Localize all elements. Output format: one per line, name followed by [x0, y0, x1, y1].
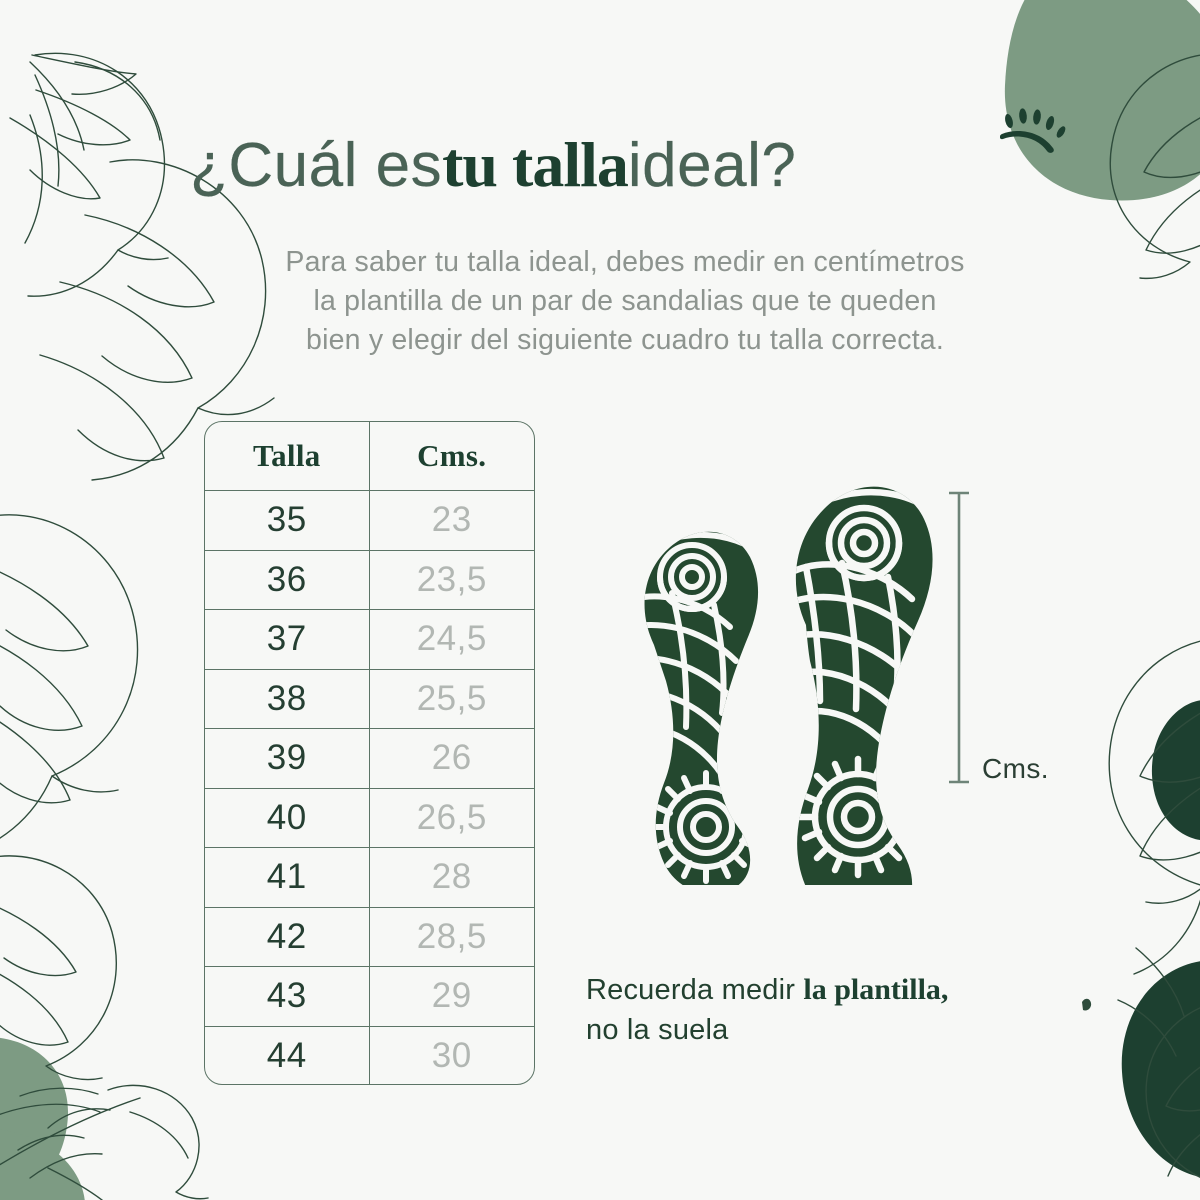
talla-value: 40: [267, 798, 307, 838]
table-row: 42 28,5: [205, 908, 534, 968]
table-cell-talla: 37: [205, 610, 370, 669]
table-header-cms: Cms.: [370, 422, 535, 490]
table-row: 36 23,5: [205, 551, 534, 611]
table-cell-cms: 23: [370, 491, 535, 550]
footprints-illustration: [610, 465, 940, 885]
talla-value: 44: [267, 1036, 307, 1076]
table-header-talla: Talla: [205, 422, 370, 490]
table-row: 37 24,5: [205, 610, 534, 670]
table-cell-talla: 36: [205, 551, 370, 610]
sage-blob-bottom-left-2: [0, 1128, 85, 1200]
footer-note-normal: Recuerda medir: [586, 974, 803, 1006]
talla-value: 41: [267, 857, 307, 897]
table-cell-talla: 43: [205, 967, 370, 1026]
footer-note: Recuerda medir la plantilla, no la suela: [586, 970, 1126, 1050]
talla-value: 35: [267, 500, 307, 540]
dark-blob-bottom-right: [1122, 960, 1200, 1178]
table-row: 40 26,5: [205, 789, 534, 849]
cms-value: 28,5: [417, 917, 487, 957]
talla-value: 37: [267, 619, 307, 659]
table-header-talla-label: Talla: [253, 438, 321, 474]
table-row: 38 25,5: [205, 670, 534, 730]
talla-value: 43: [267, 976, 307, 1016]
subtitle-line-2: la plantilla de un par de sandalias que …: [150, 282, 1100, 321]
table-cell-cms: 24,5: [370, 610, 535, 669]
table-cell-cms: 28,5: [370, 908, 535, 967]
table-row: 35 23: [205, 491, 534, 551]
table-cell-cms: 28: [370, 848, 535, 907]
table-cell-cms: 26: [370, 729, 535, 788]
cms-value: 23: [432, 500, 472, 540]
table-cell-talla: 41: [205, 848, 370, 907]
table-row: 39 26: [205, 729, 534, 789]
table-cell-cms: 23,5: [370, 551, 535, 610]
title-part-1: ¿Cuál es: [190, 129, 442, 203]
footprint-icon: [1000, 108, 1072, 154]
table-cell-talla: 42: [205, 908, 370, 967]
cms-value: 26: [432, 738, 472, 778]
talla-value: 42: [267, 917, 307, 957]
table-cell-cms: 29: [370, 967, 535, 1026]
table-cell-talla: 39: [205, 729, 370, 788]
page-subtitle: Para saber tu talla ideal, debes medir e…: [150, 243, 1100, 360]
table-header-row: Talla Cms.: [205, 422, 534, 491]
measurement-label: Cms.: [982, 753, 1049, 785]
subtitle-line-3: bien y elegir del siguiente cuadro tu ta…: [150, 321, 1100, 360]
dark-blob-right: [1152, 700, 1200, 841]
table-cell-talla: 40: [205, 789, 370, 848]
cms-value: 24,5: [417, 619, 487, 659]
table-cell-talla: 35: [205, 491, 370, 550]
subtitle-line-1: Para saber tu talla ideal, debes medir e…: [150, 243, 1100, 282]
cms-value: 30: [432, 1036, 472, 1076]
talla-value: 39: [267, 738, 307, 778]
table-cell-talla: 44: [205, 1027, 370, 1086]
cms-value: 23,5: [417, 560, 487, 600]
table-cell-cms: 30: [370, 1027, 535, 1086]
table-header-cms-label: Cms.: [417, 438, 486, 474]
size-guide-page: ¿Cuál es tu talla ideal? Para saber tu t…: [0, 0, 1200, 1200]
table-row: 41 28: [205, 848, 534, 908]
cms-value: 29: [432, 976, 472, 1016]
table-row: 43 29: [205, 967, 534, 1027]
title-part-3: ideal?: [628, 129, 796, 203]
table-cell-talla: 38: [205, 670, 370, 729]
footer-note-line-2: no la suela: [586, 1010, 1126, 1050]
footer-note-bold: la plantilla,: [803, 973, 948, 1006]
title-part-highlight: tu talla: [442, 128, 628, 202]
table-cell-cms: 26,5: [370, 789, 535, 848]
cms-value: 25,5: [417, 679, 487, 719]
size-table: Talla Cms. 35 23 36 23,5 37 24,5 38 25,5…: [204, 421, 535, 1085]
measurement-bar: [944, 490, 974, 785]
talla-value: 36: [267, 560, 307, 600]
cms-value: 28: [432, 857, 472, 897]
talla-value: 38: [267, 679, 307, 719]
table-row: 44 30: [205, 1027, 534, 1086]
page-title: ¿Cuál es tu talla ideal?: [190, 128, 1090, 208]
footer-note-line-1: Recuerda medir la plantilla,: [586, 970, 1126, 1010]
cms-value: 26,5: [417, 798, 487, 838]
table-cell-cms: 25,5: [370, 670, 535, 729]
sage-blob-bottom-left: [0, 1037, 68, 1200]
